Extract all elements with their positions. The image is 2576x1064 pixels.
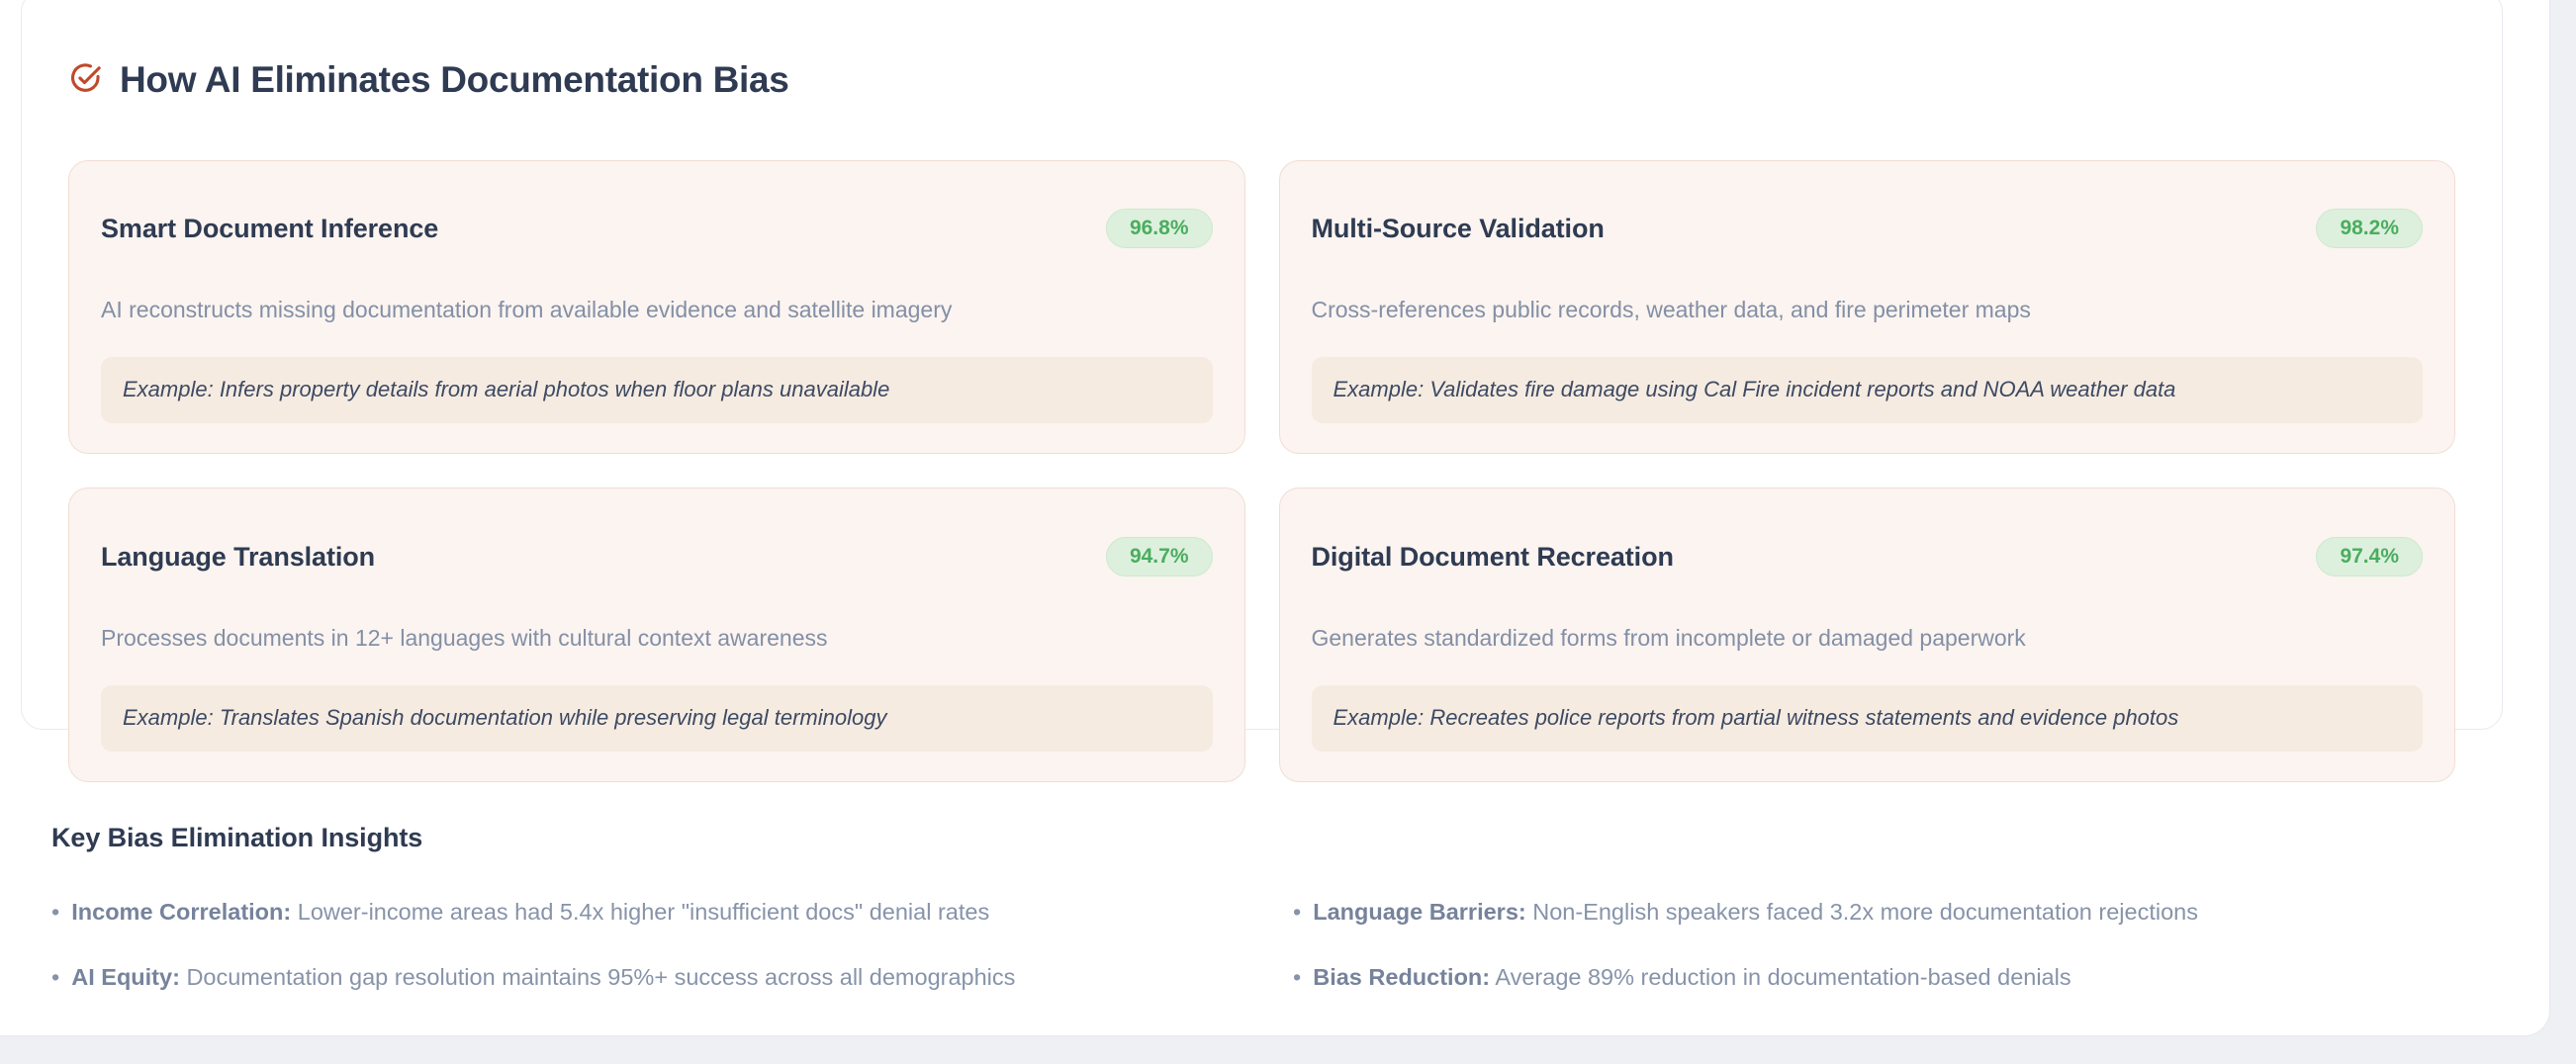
feature-card-grid: Smart Document Inference 96.8% AI recons… bbox=[22, 123, 2502, 783]
key-insights-section: Key Bias Elimination Insights • Income C… bbox=[51, 796, 2475, 1010]
insight-text: Lower-income areas had 5.4x higher "insu… bbox=[298, 899, 989, 925]
feature-card-description: Processes documents in 12+ languages wit… bbox=[101, 623, 1213, 654]
feature-card-example: Example: Translates Spanish documentatio… bbox=[101, 685, 1213, 753]
feature-card[interactable]: Smart Document Inference 96.8% AI recons… bbox=[68, 160, 1245, 455]
feature-card-header: Digital Document Recreation 97.4% bbox=[1312, 518, 2424, 594]
feature-card-title: Multi-Source Validation bbox=[1312, 213, 1605, 244]
circle-check-icon bbox=[68, 62, 102, 96]
feature-card-example: Example: Validates fire damage using Cal… bbox=[1312, 357, 2424, 424]
feature-card-header: Smart Document Inference 96.8% bbox=[101, 191, 1213, 267]
feature-card-title: Language Translation bbox=[101, 541, 375, 573]
panel-header: How AI Eliminates Documentation Bias bbox=[22, 0, 2502, 123]
insights-grid: • Income Correlation: Lower-income areas… bbox=[51, 880, 2475, 1010]
insight-item: • Language Barriers: Non-English speaker… bbox=[1293, 880, 2475, 945]
insight-label: AI Equity: bbox=[71, 964, 180, 990]
feature-card-description: Generates standardized forms from incomp… bbox=[1312, 623, 2424, 654]
feature-card-header: Language Translation 94.7% bbox=[101, 518, 1213, 594]
page-surface: How AI Eliminates Documentation Bias Sma… bbox=[0, 0, 2550, 1036]
insight-label: Income Correlation: bbox=[71, 899, 291, 925]
bullet-icon: • bbox=[1293, 966, 1301, 990]
insight-text: Non-English speakers faced 3.2x more doc… bbox=[1532, 899, 2198, 925]
page-title: How AI Eliminates Documentation Bias bbox=[120, 61, 789, 98]
documentation-bias-panel: How AI Eliminates Documentation Bias Sma… bbox=[21, 0, 2503, 730]
accuracy-badge: 98.2% bbox=[2316, 209, 2423, 248]
feature-card-example: Example: Recreates police reports from p… bbox=[1312, 685, 2424, 753]
insight-label: Language Barriers: bbox=[1313, 899, 1525, 925]
page-content: How AI Eliminates Documentation Bias Sma… bbox=[0, 0, 2549, 1035]
insight-item: • Income Correlation: Lower-income areas… bbox=[51, 880, 1234, 945]
feature-card-description: AI reconstructs missing documentation fr… bbox=[101, 295, 1213, 325]
insight-text: Average 89% reduction in documentation-b… bbox=[1495, 964, 2070, 990]
insight-label: Bias Reduction: bbox=[1313, 964, 1490, 990]
insights-title: Key Bias Elimination Insights bbox=[51, 823, 2475, 853]
bullet-icon: • bbox=[51, 901, 59, 925]
feature-card-example: Example: Infers property details from ae… bbox=[101, 357, 1213, 424]
insight-item: • AI Equity: Documentation gap resolutio… bbox=[51, 945, 1234, 1011]
feature-card-header: Multi-Source Validation 98.2% bbox=[1312, 191, 2424, 267]
bullet-icon: • bbox=[51, 966, 59, 990]
accuracy-badge: 94.7% bbox=[1106, 537, 1213, 576]
bullet-icon: • bbox=[1293, 901, 1301, 925]
feature-card-description: Cross-references public records, weather… bbox=[1312, 295, 2424, 325]
feature-card-title: Digital Document Recreation bbox=[1312, 541, 1674, 573]
accuracy-badge: 96.8% bbox=[1106, 209, 1213, 248]
feature-card[interactable]: Language Translation 94.7% Processes doc… bbox=[68, 488, 1245, 782]
insight-item: • Bias Reduction: Average 89% reduction … bbox=[1293, 945, 2475, 1011]
feature-card-title: Smart Document Inference bbox=[101, 213, 438, 244]
insight-text: Documentation gap resolution maintains 9… bbox=[186, 964, 1015, 990]
feature-card[interactable]: Digital Document Recreation 97.4% Genera… bbox=[1279, 488, 2456, 782]
feature-card[interactable]: Multi-Source Validation 98.2% Cross-refe… bbox=[1279, 160, 2456, 455]
accuracy-badge: 97.4% bbox=[2316, 537, 2423, 576]
